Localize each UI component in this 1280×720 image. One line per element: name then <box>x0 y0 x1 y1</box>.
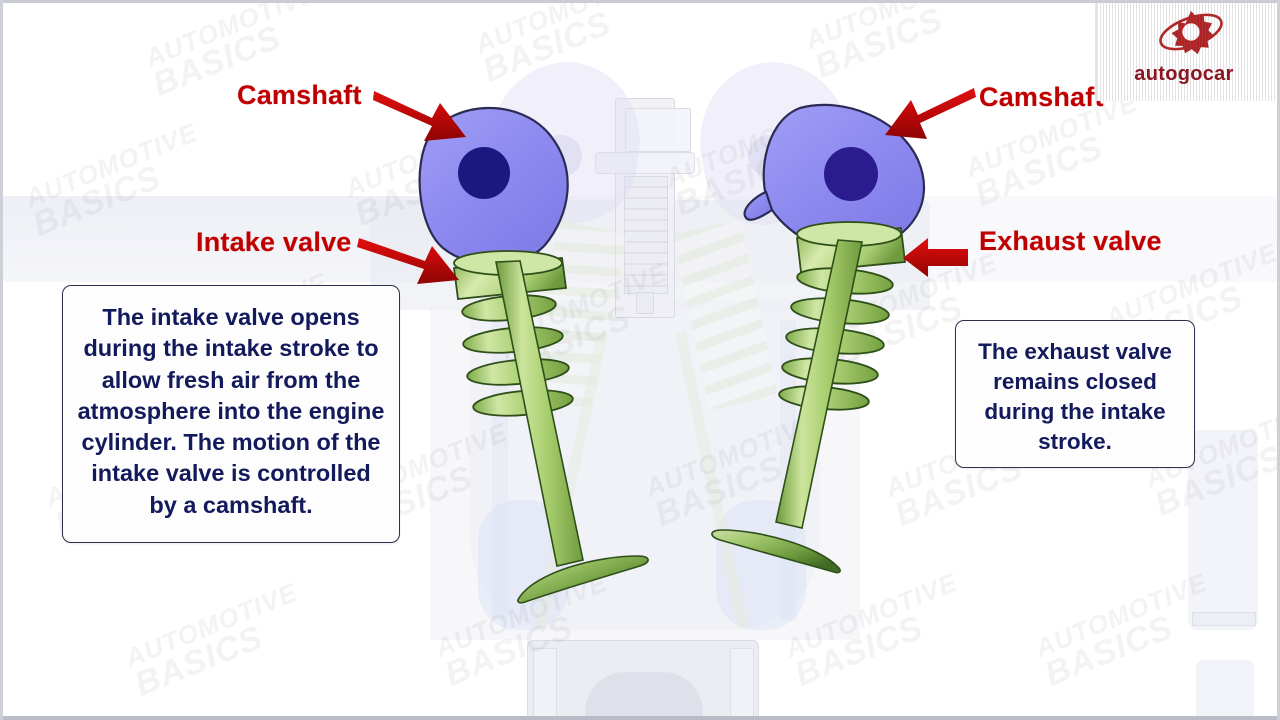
frame-edge-top <box>0 0 1280 3</box>
callout-camshaft-right: Camshaft <box>979 82 1104 113</box>
logo-scanline-overlay <box>1097 3 1275 101</box>
frame-edge-left <box>0 0 3 720</box>
callout-exhaust-valve: Exhaust valve <box>979 226 1162 257</box>
callout-intake-valve: Intake valve <box>196 227 352 258</box>
camshaft-journal-left <box>458 147 510 199</box>
camshaft-journal-right <box>824 147 878 201</box>
info-box-exhaust: The exhaust valve remains closed during … <box>955 320 1195 468</box>
valve-head-left <box>518 556 648 603</box>
arrow-camshaft-right <box>885 88 976 139</box>
info-box-intake: The intake valve opens during the intake… <box>62 285 400 543</box>
frame-edge-bottom <box>0 716 1280 720</box>
arrow-exhaust-valve <box>903 238 968 277</box>
brand-wordmark: autogocar <box>1097 63 1271 86</box>
brand-logo-panel[interactable]: autogocar <box>1095 3 1275 101</box>
callout-camshaft-left: Camshaft <box>237 80 362 111</box>
diagram-canvas: AUTOMOTIVE BASICS AUTOMOTIVE BASICS AUTO… <box>0 0 1280 720</box>
valve-head-right <box>712 530 840 573</box>
